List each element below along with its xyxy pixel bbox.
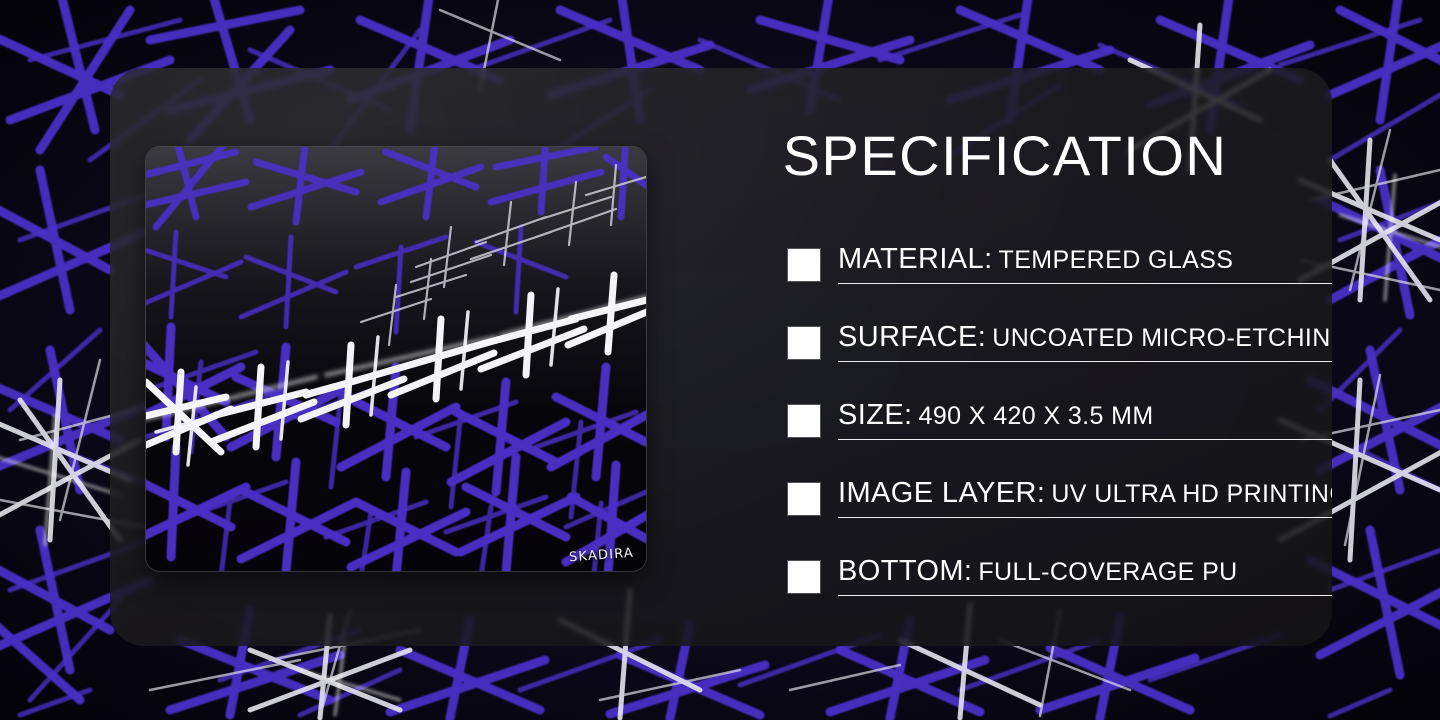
spec-row-material: MATERIAL:TEMPERED GLASS <box>788 243 1332 299</box>
bullet-square-icon <box>788 249 820 281</box>
spec-text-bottom: BOTTOM:FULL-COVERAGE PU <box>838 555 1332 596</box>
spec-text-image-layer: IMAGE LAYER:UV ULTRA HD PRINTING <box>838 477 1332 518</box>
bullet-square-icon <box>788 327 820 359</box>
spec-label: BOTTOM: <box>838 555 972 587</box>
spec-value: TEMPERED GLASS <box>999 246 1234 274</box>
spec-row-size: SIZE:490 X 420 X 3.5 MM <box>788 399 1332 455</box>
spec-row-image-layer: IMAGE LAYER:UV ULTRA HD PRINTING <box>788 477 1332 533</box>
specification-card: SKADIRA SPECIFICATION MATERIAL:TEMPERED … <box>110 68 1332 646</box>
spec-text-surface: SURFACE:UNCOATED MICRO-ETCHING <box>838 321 1332 362</box>
bullet-square-icon <box>788 483 820 515</box>
bullet-square-icon <box>788 561 820 593</box>
spec-label: SURFACE: <box>838 321 986 353</box>
spec-value: FULL-COVERAGE PU <box>978 558 1237 586</box>
spec-text-size: SIZE:490 X 420 X 3.5 MM <box>838 399 1332 440</box>
spec-value: UV ULTRA HD PRINTING <box>1051 480 1332 508</box>
spec-row-bottom: BOTTOM:FULL-COVERAGE PU <box>788 555 1332 611</box>
bullet-square-icon <box>788 405 820 437</box>
spec-value: UNCOATED MICRO-ETCHING <box>992 324 1332 352</box>
spec-row-surface: SURFACE:UNCOATED MICRO-ETCHING <box>788 321 1332 377</box>
spec-label: IMAGE LAYER: <box>838 477 1045 509</box>
page-title: SPECIFICATION <box>678 128 1332 184</box>
product-thorn-artwork <box>146 147 646 571</box>
spec-label: SIZE: <box>838 399 913 431</box>
spec-text-material: MATERIAL:TEMPERED GLASS <box>838 243 1332 284</box>
product-image[interactable]: SKADIRA <box>146 147 646 571</box>
spec-value: 490 X 420 X 3.5 MM <box>919 402 1154 430</box>
specification-list: MATERIAL:TEMPERED GLASS SURFACE:UNCOATED… <box>788 243 1332 633</box>
spec-label: MATERIAL: <box>838 243 993 275</box>
specification-panel: SPECIFICATION MATERIAL:TEMPERED GLASS SU… <box>678 68 1332 646</box>
